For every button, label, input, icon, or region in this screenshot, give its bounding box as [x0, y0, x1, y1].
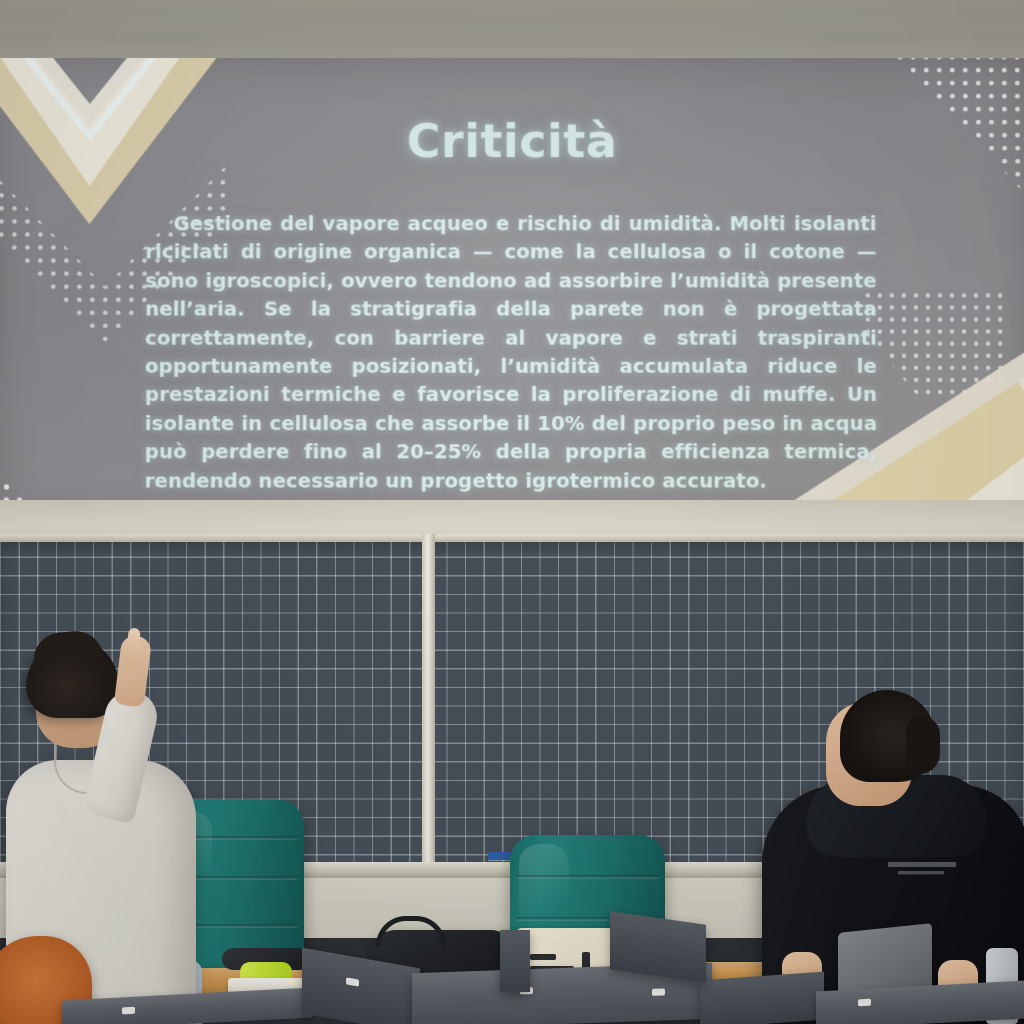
student-seated-hair	[840, 690, 936, 782]
slide-body-text: Gestione del vapore acqueo e rischio di …	[145, 210, 878, 495]
desk-panel-clip	[122, 1007, 135, 1015]
slide-title: Criticità	[0, 114, 1024, 168]
desk-divider-vertical	[500, 930, 530, 992]
desk-panel-foreground-4	[700, 972, 824, 1024]
tote-print	[530, 954, 556, 960]
chair-seam	[516, 875, 659, 879]
projected-slide: Criticità Gestione del vapore acqueo e r…	[0, 58, 1024, 522]
chalkboard-top-frame	[0, 534, 1024, 542]
desk-panel-clip	[346, 977, 359, 986]
desk-panel-clip	[858, 999, 871, 1007]
student-pointing-hair	[26, 640, 118, 718]
hoodie-chest-print	[886, 860, 960, 878]
chair-highlight	[519, 844, 569, 935]
desk-panel-clip	[652, 988, 665, 995]
classroom-scene: Criticità Gestione del vapore acqueo e r…	[0, 0, 1024, 1024]
